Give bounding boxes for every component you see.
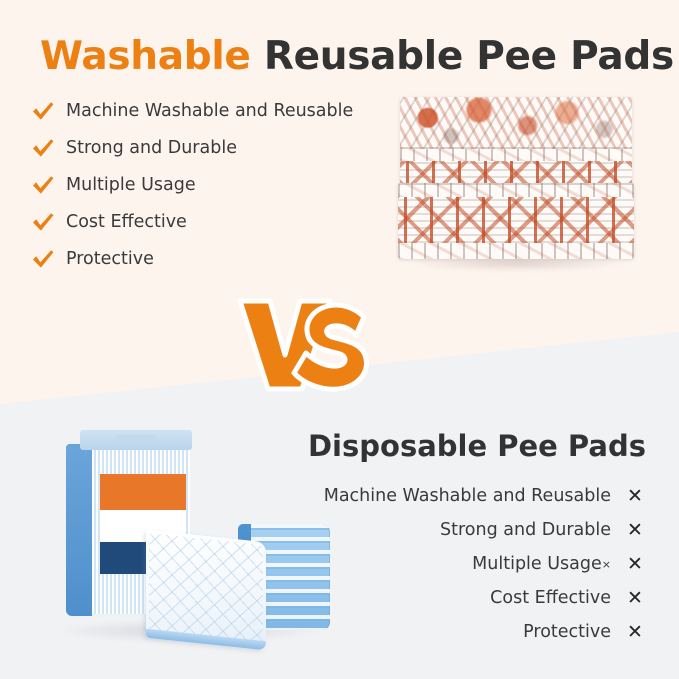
cross-icon: ✕ bbox=[624, 520, 646, 540]
list-item-label: Machine Washable and Reusable bbox=[66, 101, 353, 121]
product-box-flap-tab bbox=[116, 435, 156, 441]
page-title-rest: Reusable Pee Pads bbox=[251, 34, 674, 79]
product-box-label-navy bbox=[100, 542, 146, 574]
check-icon bbox=[30, 246, 56, 272]
cross-icon: ✕ bbox=[624, 554, 646, 574]
list-item-suffix: × bbox=[602, 558, 611, 571]
check-icon bbox=[30, 135, 56, 161]
list-item-label: Cost Effective bbox=[66, 212, 187, 232]
page-title-highlight: Washable bbox=[40, 34, 251, 79]
washable-product-image bbox=[392, 95, 642, 275]
list-item-label: Strong and Durable bbox=[440, 520, 611, 540]
folded-pad-top bbox=[400, 97, 632, 185]
cross-icon: ✕ bbox=[624, 588, 646, 608]
list-item-label: Strong and Durable bbox=[66, 138, 237, 158]
check-icon bbox=[30, 172, 56, 198]
list-item-label: Machine Washable and Reusable bbox=[324, 486, 611, 506]
disposable-product-image bbox=[52, 424, 332, 656]
list-item: Machine Washable and Reusable bbox=[30, 94, 370, 128]
list-item: Protective ✕ bbox=[300, 618, 646, 646]
list-item-label: Protective bbox=[523, 622, 611, 642]
list-item: Strong and Durable ✕ bbox=[300, 516, 646, 544]
list-item: Multiple Usage × ✕ bbox=[300, 550, 646, 578]
page-title: Washable Reusable Pee Pads bbox=[40, 34, 674, 80]
disposable-feature-list: Machine Washable and Reusable ✕ Strong a… bbox=[300, 482, 646, 652]
list-item: Protective bbox=[30, 242, 370, 276]
check-icon bbox=[30, 98, 56, 124]
cross-icon: ✕ bbox=[624, 622, 646, 642]
list-item: Multiple Usage bbox=[30, 168, 370, 202]
product-box-side bbox=[66, 444, 92, 616]
list-item-label: Multiple Usage bbox=[472, 554, 602, 574]
washable-feature-list: Machine Washable and Reusable Strong and… bbox=[30, 94, 370, 279]
list-item: Strong and Durable bbox=[30, 131, 370, 165]
vs-badge-icon bbox=[236, 293, 376, 393]
infographic-canvas: Washable Reusable Pee Pads Machine Washa… bbox=[0, 0, 679, 679]
list-item: Cost Effective ✕ bbox=[300, 584, 646, 612]
cross-icon: ✕ bbox=[624, 486, 646, 506]
product-box-label-orange bbox=[100, 474, 186, 510]
list-item-label: Cost Effective bbox=[490, 588, 611, 608]
list-item: Machine Washable and Reusable ✕ bbox=[300, 482, 646, 510]
folded-pad-bottom bbox=[398, 183, 634, 259]
list-item: Cost Effective bbox=[30, 205, 370, 239]
list-item-label: Multiple Usage bbox=[66, 175, 196, 195]
check-icon bbox=[30, 209, 56, 235]
quilted-pad-sheet bbox=[146, 530, 266, 651]
list-item-label: Protective bbox=[66, 249, 154, 269]
